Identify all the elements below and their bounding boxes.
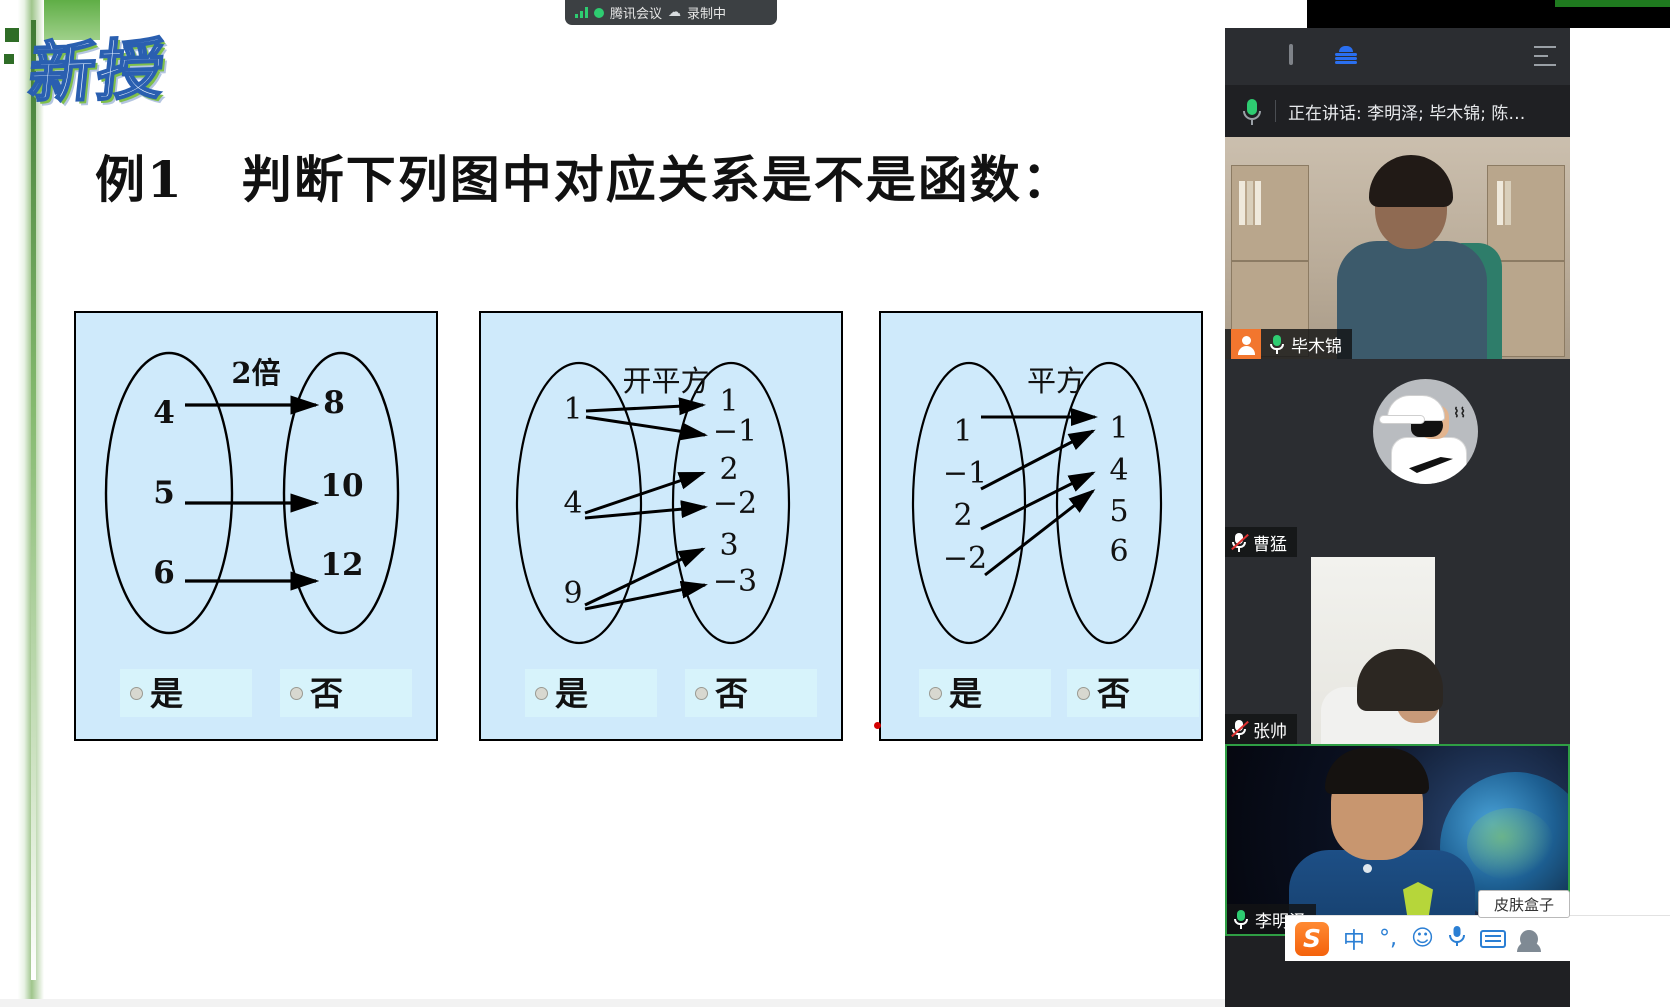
microphone-on-icon bbox=[1233, 909, 1249, 929]
host-badge-icon bbox=[1231, 329, 1261, 359]
answer-label: 是 bbox=[150, 677, 183, 710]
answer-label: 是 bbox=[555, 677, 588, 710]
meeting-app-name: 腾讯会议 bbox=[610, 3, 662, 22]
ime-language-mode[interactable]: 中 bbox=[1343, 923, 1365, 955]
svg-text:9: 9 bbox=[563, 576, 582, 611]
presentation-slide: 新授 例1判断下列图中对应关系是不是函数： 2倍 4 5 6 8 10 12 bbox=[0, 0, 1307, 1007]
microphone-on-icon bbox=[1269, 334, 1285, 354]
svg-text:开平方: 开平方 bbox=[622, 364, 709, 398]
sidebar-toggle-icon[interactable] bbox=[1534, 46, 1556, 66]
meeting-sidebar: 正在讲话: 李明泽; 毕木锦; 陈旭... bbox=[1225, 28, 1570, 1007]
svg-text:3: 3 bbox=[719, 528, 738, 563]
ime-emoji-icon[interactable]: ☺ bbox=[1411, 926, 1434, 951]
answer-option-no-1[interactable]: 否 bbox=[280, 669, 412, 717]
svg-text:1: 1 bbox=[563, 392, 582, 427]
laser-pointer-dot bbox=[874, 722, 881, 729]
svg-text:4: 4 bbox=[153, 395, 175, 431]
answer-label: 否 bbox=[310, 677, 343, 710]
slide-wordart-title: 新授 bbox=[25, 16, 172, 117]
svg-text:5: 5 bbox=[1109, 494, 1128, 529]
recording-status-pill[interactable]: 腾讯会议 ☁ 录制中 bbox=[565, 0, 777, 25]
recording-status-text: 录制中 bbox=[687, 3, 726, 22]
svg-text:2: 2 bbox=[719, 452, 738, 487]
ime-voice-input-icon[interactable] bbox=[1448, 925, 1466, 953]
participant-tile[interactable]: 毕木锦 bbox=[1225, 137, 1570, 359]
radio-icon[interactable] bbox=[695, 687, 708, 700]
keyboard-icon[interactable] bbox=[1480, 930, 1506, 948]
signal-bars-icon bbox=[575, 7, 588, 18]
participant-name: 张帅 bbox=[1253, 717, 1287, 742]
avatar: ⌇⌇ bbox=[1373, 379, 1478, 484]
svg-text:−3: −3 bbox=[713, 564, 757, 599]
svg-text:平方: 平方 bbox=[1027, 364, 1085, 398]
radio-icon[interactable] bbox=[1077, 687, 1090, 700]
participant-name-chip: 毕木锦 bbox=[1225, 329, 1352, 359]
radio-icon[interactable] bbox=[535, 687, 548, 700]
svg-text:6: 6 bbox=[1109, 534, 1128, 569]
taskbar-sliver bbox=[0, 999, 1225, 1007]
mapping-panel-2: 开平方 1 4 9 1 −1 2 −2 3 −3 bbox=[479, 311, 843, 741]
svg-text:8: 8 bbox=[323, 385, 345, 421]
svg-text:1: 1 bbox=[953, 414, 972, 449]
speaking-label: 正在讲话: 李明泽; 毕木锦; 陈旭... bbox=[1288, 99, 1538, 124]
participant-name: 毕木锦 bbox=[1291, 332, 1342, 357]
mapping-panel-3: 平方 1 −1 2 −2 1 4 5 6 bbox=[879, 311, 1203, 741]
screen: 新授 例1判断下列图中对应关系是不是函数： 2倍 4 5 6 8 10 12 bbox=[0, 0, 1670, 1007]
answer-option-yes-2[interactable]: 是 bbox=[525, 669, 657, 717]
svg-text:2: 2 bbox=[953, 498, 972, 533]
page-title: 例1判断下列图中对应关系是不是函数： bbox=[95, 140, 1195, 212]
svg-text:−2: −2 bbox=[713, 486, 757, 521]
svg-text:4: 4 bbox=[563, 486, 582, 521]
answer-option-no-3[interactable]: 否 bbox=[1067, 669, 1199, 717]
participant-tile[interactable]: ⌇⌇ 曹猛 bbox=[1225, 359, 1570, 557]
top-green-strip bbox=[1555, 0, 1670, 7]
slide-left-decoration bbox=[0, 0, 44, 1007]
list-view-icon[interactable] bbox=[1335, 46, 1361, 68]
video-feed bbox=[1225, 137, 1570, 359]
slide-left-green-bar bbox=[31, 20, 36, 980]
answer-option-yes-1[interactable]: 是 bbox=[120, 669, 252, 717]
radio-icon[interactable] bbox=[130, 687, 143, 700]
svg-text:10: 10 bbox=[320, 468, 363, 504]
svg-text:1: 1 bbox=[1109, 411, 1128, 446]
svg-text:4: 4 bbox=[1109, 453, 1128, 488]
participant-tile[interactable]: 张帅 bbox=[1225, 557, 1570, 744]
svg-text:6: 6 bbox=[153, 555, 175, 591]
meeting-titlebar bbox=[1225, 28, 1570, 85]
microphone-muted-icon bbox=[1231, 532, 1247, 552]
answer-label: 否 bbox=[715, 677, 748, 710]
participant-name-chip: 张帅 bbox=[1225, 714, 1297, 744]
cloud-icon: ☁ bbox=[668, 5, 681, 20]
user-icon[interactable] bbox=[1520, 930, 1538, 948]
participant-name-chip: 曹猛 bbox=[1225, 527, 1297, 557]
answer-row-1: 是 否 bbox=[76, 669, 436, 717]
answer-label: 是 bbox=[949, 677, 982, 710]
participant-name: 曹猛 bbox=[1253, 530, 1287, 555]
radio-icon[interactable] bbox=[929, 687, 942, 700]
svg-text:−2: −2 bbox=[943, 541, 987, 576]
answer-row-2: 是 否 bbox=[481, 669, 841, 717]
sogou-ime-toolbar: S 中 °, ☺ bbox=[1285, 915, 1670, 961]
svg-text:5: 5 bbox=[153, 475, 175, 511]
skin-box-tooltip: 皮肤盒子 bbox=[1478, 890, 1570, 918]
answer-option-yes-3[interactable]: 是 bbox=[919, 669, 1051, 717]
example-number: 例1 bbox=[95, 150, 184, 209]
radio-icon[interactable] bbox=[290, 687, 303, 700]
divider bbox=[1275, 100, 1276, 122]
answer-label: 否 bbox=[1097, 677, 1130, 710]
sogou-logo-icon[interactable]: S bbox=[1295, 922, 1329, 956]
speaking-status-bar: 正在讲话: 李明泽; 毕木锦; 陈旭... bbox=[1225, 85, 1570, 137]
decor-square-small-icon bbox=[4, 54, 14, 64]
svg-text:−1: −1 bbox=[713, 414, 757, 449]
ime-punctuation-mode[interactable]: °, bbox=[1379, 926, 1397, 951]
svg-text:12: 12 bbox=[320, 547, 363, 583]
minimize-icon[interactable] bbox=[1243, 46, 1269, 68]
svg-text:2倍: 2倍 bbox=[231, 356, 280, 390]
mapping-panel-1: 2倍 4 5 6 8 10 12 是 bbox=[74, 311, 438, 741]
title-text: 判断下列图中对应关系是不是函数： bbox=[242, 150, 1074, 209]
record-dot-icon bbox=[594, 8, 604, 18]
microphone-active-icon bbox=[1239, 96, 1265, 126]
decor-square-icon bbox=[5, 28, 19, 42]
microphone-muted-icon bbox=[1231, 719, 1247, 739]
answer-option-no-2[interactable]: 否 bbox=[685, 669, 817, 717]
restore-icon[interactable] bbox=[1289, 46, 1315, 68]
svg-text:−1: −1 bbox=[943, 456, 987, 491]
answer-row-3: 是 否 bbox=[881, 669, 1201, 717]
